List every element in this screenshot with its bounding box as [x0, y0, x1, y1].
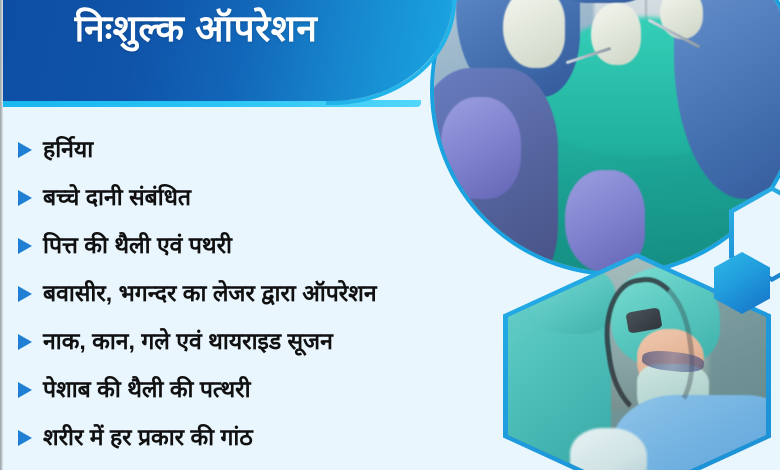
triangle-bullet-icon: [18, 142, 32, 158]
header-banner: निःशुल्क ऑपरेशन: [0, 0, 452, 101]
triangle-bullet-icon: [18, 430, 32, 446]
services-list: हर्निया बच्चे दानी संबंधित पित्त की थैली…: [0, 126, 520, 470]
surgical-glove: [503, 0, 565, 68]
list-item-label: हर्निया: [43, 136, 93, 164]
list-item-label: शरीर में हर प्रकार की गांठ: [43, 424, 253, 452]
page-title: निःशुल्क ऑपरेशन: [0, 6, 392, 52]
list-item: बच्चे दानी संबंधित: [0, 174, 520, 222]
surgical-glove: [591, 3, 642, 65]
triangle-bullet-icon: [18, 286, 32, 302]
list-item: पेशाब की थैली की पत्थरी: [0, 366, 520, 414]
triangle-bullet-icon: [18, 238, 32, 254]
triangle-bullet-icon: [18, 382, 32, 398]
list-item: पित्त की थैली एवं पथरी: [0, 222, 520, 270]
list-item: शरीर में हर प्रकार की गांठ: [0, 414, 520, 462]
list-item-label: पित्त की थैली एवं पथरी: [43, 232, 232, 260]
list-item: हर्निया: [0, 126, 520, 174]
header-accent-stripe: [0, 100, 421, 107]
left-edge-divider: [0, 0, 3, 470]
list-item-label: बवासीर, भगन्दर का लेजर द्वारा ऑपरेशन: [43, 280, 377, 308]
triangle-bullet-icon: [18, 190, 32, 206]
triangle-bullet-icon: [18, 334, 32, 350]
list-item-label: नाक, कान, गले एवं थायराइड सूजन: [43, 328, 333, 356]
list-item-label: बच्चे दानी संबंधित: [43, 184, 191, 212]
list-item-label: पेशाब की थैली की पत्थरी: [43, 376, 251, 404]
list-item: नाक, कान, गले एवं थायराइड सूजन: [0, 318, 520, 366]
list-item: बवासीर, भगन्दर का लेजर द्वारा ऑपरेशन: [0, 270, 520, 318]
list-item-truncated: [0, 462, 520, 470]
free-operation-poster: निःशुल्क ऑपरेशन हर्निया: [0, 0, 780, 470]
